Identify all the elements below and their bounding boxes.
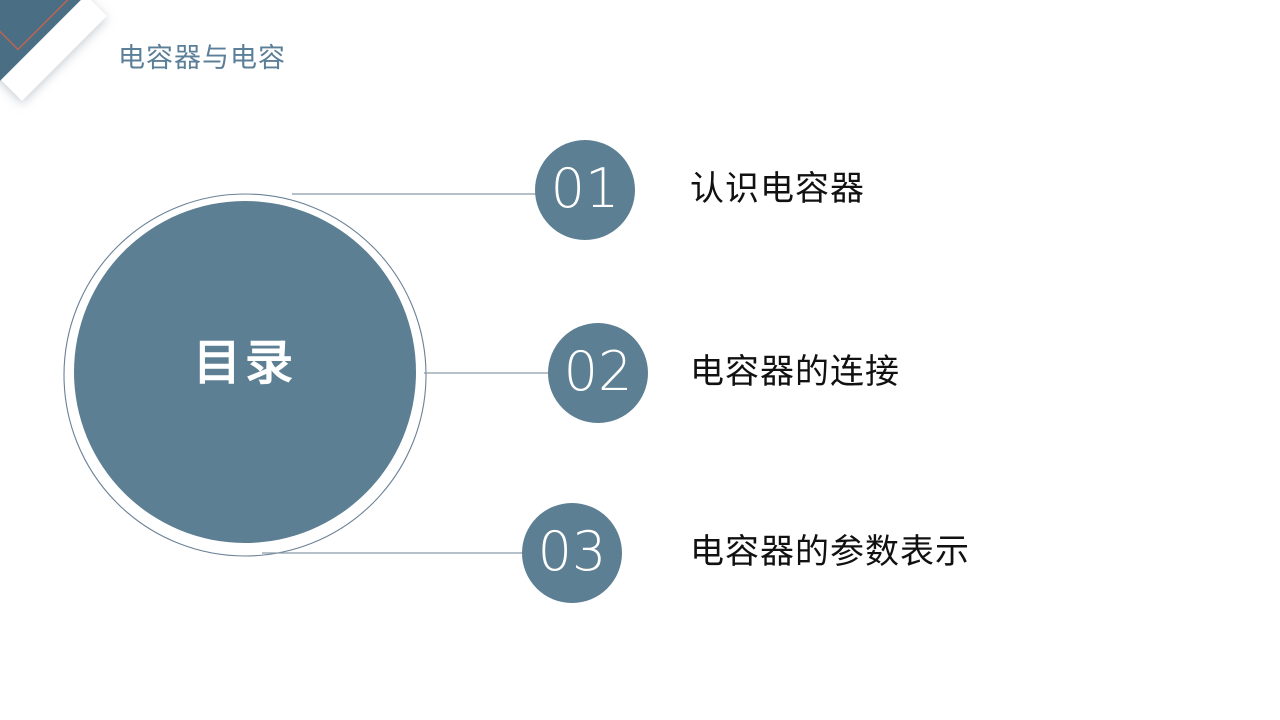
toc-label-02: 电容器的连接 (690, 355, 900, 389)
toc-badge-01[interactable]: 01 (535, 140, 635, 240)
toc-number-02: 02 (564, 345, 633, 399)
toc-number-01: 01 (551, 162, 620, 216)
toc-badge-03[interactable]: 03 (522, 503, 622, 603)
toc-label-03: 电容器的参数表示 (690, 535, 970, 569)
toc-badge-02[interactable]: 02 (548, 323, 648, 423)
toc-label-01: 认识电容器 (690, 172, 865, 206)
center-circle-label: 目录 (75, 340, 415, 388)
presentation-slide: 电容器与电容 目录 01 认识电容器 02 电容器的连接 03 电容器的参数表示 (0, 0, 1280, 720)
toc-number-03: 03 (538, 525, 607, 579)
